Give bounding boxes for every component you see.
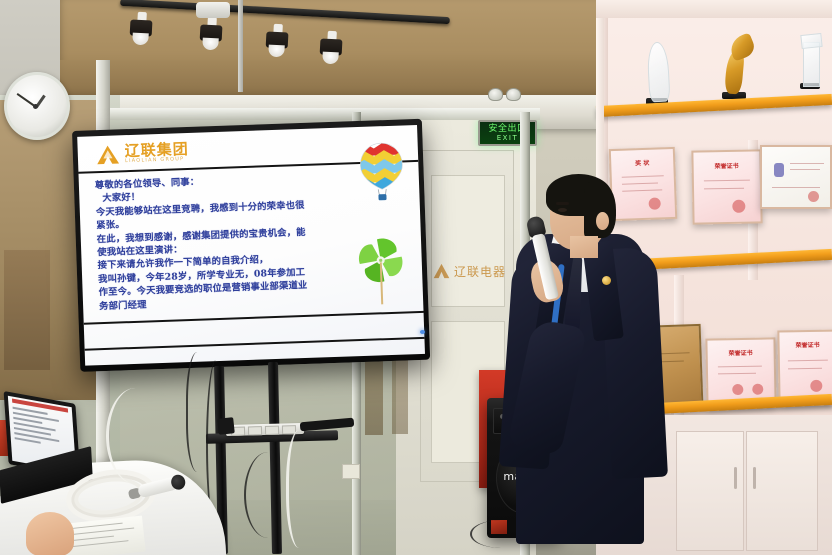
- presenter: [492, 172, 682, 555]
- slide-text-block: 尊敬的各位领导、同事：大家好！今天我能够站在这里竞聘，我感到十分的荣幸也很紧张。…: [95, 171, 360, 314]
- track-light-2: [199, 16, 223, 51]
- trophy-crystal-column: [803, 42, 820, 87]
- ceiling-pole: [238, 0, 243, 92]
- wall-clock: [4, 72, 70, 140]
- cabinet-door-left: [676, 431, 744, 551]
- glass-header-rail: [110, 108, 540, 120]
- green-pinwheel-icon: [357, 233, 407, 307]
- wall-power-outlet: [342, 464, 360, 479]
- shelf-top-frame: [596, 0, 832, 18]
- gold-lapel-pin: [602, 276, 611, 285]
- foreground-hand: [26, 512, 74, 555]
- ceiling-wood-beam-lower: [60, 60, 620, 100]
- eyebrow: [556, 202, 569, 205]
- emergency-light-left: [488, 88, 503, 101]
- presentation-display: 辽联集团 LIAOLIAN GROUP: [72, 119, 430, 372]
- neck: [570, 236, 598, 258]
- certificate-plaque-2: 荣誉证书: [691, 149, 762, 224]
- cabinet-handle-left: [734, 467, 737, 489]
- track-light-3: [265, 23, 289, 58]
- trophy-crystal-top: [800, 33, 822, 49]
- cable-on-floor: [244, 452, 292, 538]
- eye: [558, 208, 567, 212]
- certificate-plaque-3: [760, 145, 832, 209]
- tv-power-indicator: [420, 330, 425, 334]
- power-strip: [226, 423, 304, 436]
- presentation-room-photo: 辽联电器 安全出口 EXIT 奖 状: [0, 0, 832, 555]
- emergency-light-right: [506, 88, 521, 101]
- track-light-4: [319, 30, 343, 65]
- cabinet-door-right: [746, 431, 818, 551]
- cable-running-up: [106, 388, 165, 484]
- track-light-1: [129, 11, 153, 46]
- exit-sign-english: EXIT: [497, 134, 519, 142]
- mountain-logo-mark-icon: [96, 144, 121, 165]
- slide-logo-english: LIAOLIAN GROUP: [125, 156, 189, 164]
- hot-air-balloon-icon: [358, 141, 406, 205]
- cabinet-handle-right: [753, 467, 756, 489]
- ear: [596, 212, 609, 230]
- ceiling-camera: [196, 2, 230, 18]
- mountain-logo-mark-icon: [433, 263, 450, 279]
- left-wall-poster: [4, 250, 50, 370]
- slide-brand-logo: 辽联集团 LIAOLIAN GROUP: [95, 141, 189, 166]
- presentation-slide: 辽联集团 LIAOLIAN GROUP: [77, 125, 425, 366]
